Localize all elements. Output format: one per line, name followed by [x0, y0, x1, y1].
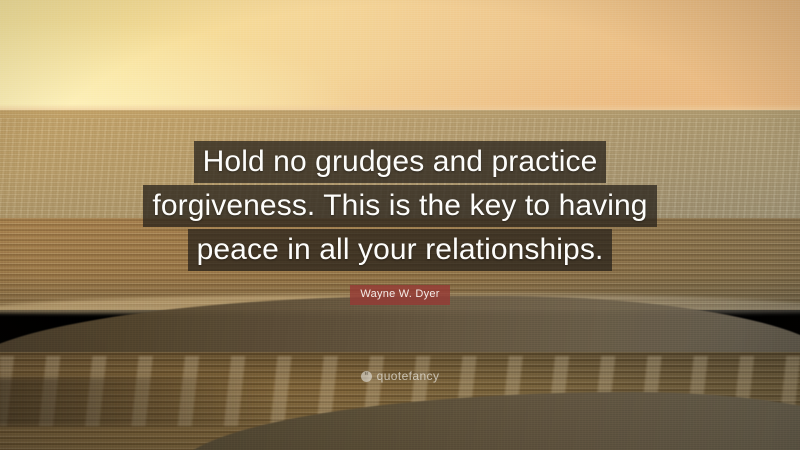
watermark-brand: quotefancy — [377, 370, 440, 382]
author-attribution: Wayne W. Dyer — [0, 284, 800, 305]
watermark-inner: “ quotefancy — [361, 370, 440, 382]
watermark: “ quotefancy — [0, 365, 800, 383]
quote-text: Hold no grudges and practice forgiveness… — [0, 141, 800, 273]
quote-mark-badge-icon: “ — [361, 371, 372, 382]
quote-poster: Hold no grudges and practice forgiveness… — [0, 0, 800, 450]
quote-line-1: Hold no grudges and practice — [194, 141, 607, 183]
quote-line-2: forgiveness. This is the key to having — [143, 185, 656, 227]
author-name: Wayne W. Dyer — [350, 285, 449, 305]
quote-line-3: peace in all your relationships. — [188, 229, 613, 271]
